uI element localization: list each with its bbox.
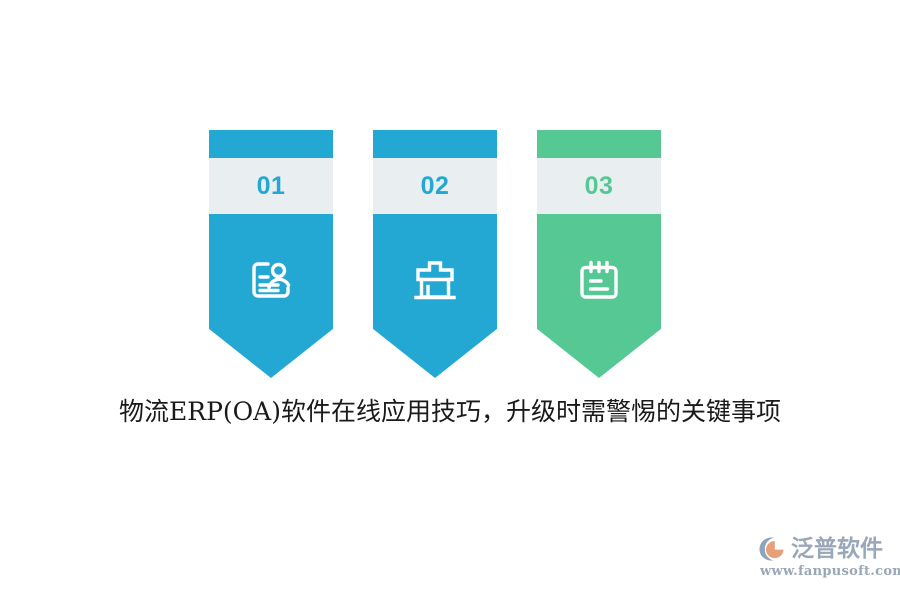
banner-number-label: 01	[257, 174, 286, 199]
banner-number-band: 02	[373, 158, 497, 214]
fanpu-swoosh-logo-icon	[758, 535, 788, 563]
notepad-checklist-icon	[537, 248, 661, 312]
page-title: 物流ERP(OA)软件在线应用技巧，升级时需警惕的关键事项	[0, 396, 900, 427]
logo-row: 泛普软件	[758, 534, 883, 564]
logo-url: www.fanpusoft.com	[760, 565, 900, 578]
banner-item-01[interactable]: 01	[209, 130, 333, 378]
banner-group: 01 02	[0, 130, 900, 378]
poster-canvas: 01 02	[0, 0, 900, 600]
id-card-contact-icon	[209, 248, 333, 312]
building-store-icon	[373, 248, 497, 312]
banner-item-02[interactable]: 02	[373, 130, 497, 378]
banner-number-label: 03	[585, 174, 614, 199]
banner-number-band: 03	[537, 158, 661, 214]
banner-number-band: 01	[209, 158, 333, 214]
logo-wordmark: 泛普软件	[791, 538, 883, 561]
banner-item-03[interactable]: 03	[537, 130, 661, 378]
brand-watermark: 泛普软件 www.fanpusoft.com	[758, 534, 893, 582]
banner-number-label: 02	[421, 174, 450, 199]
